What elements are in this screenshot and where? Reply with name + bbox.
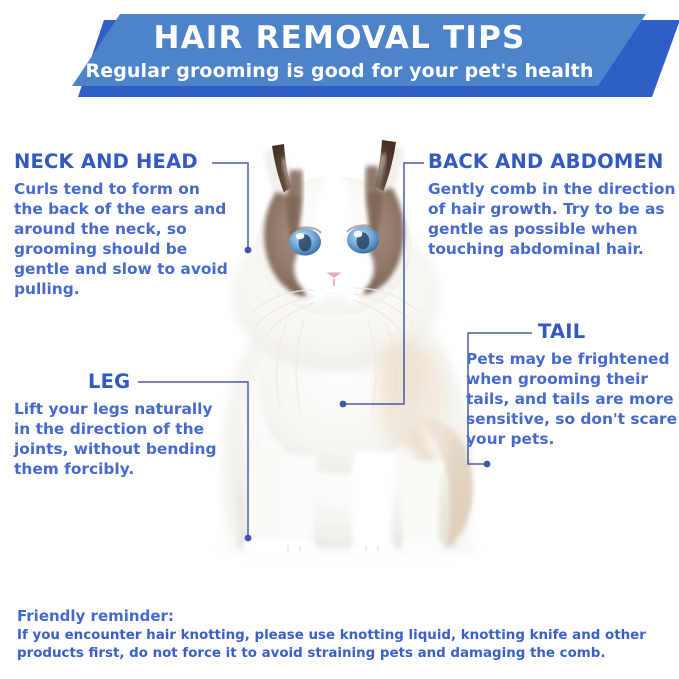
header-banner: HAIR REMOVAL TIPS Regular grooming is go… (0, 0, 679, 104)
section-body-back: Gently comb in the direction of hair gro… (428, 179, 678, 259)
section-body-tail: Pets may be frightened when grooming the… (466, 349, 678, 449)
footer-title: Friendly reminder: (17, 607, 667, 625)
section-heading-tail: TAIL (538, 320, 678, 343)
footer-body: If you encounter hair knotting, please u… (17, 627, 667, 663)
section-leg: LEG Lift your legs naturally in the dire… (14, 370, 229, 479)
section-body-neck: Curls tend to form on the back of the ea… (14, 179, 229, 299)
section-body-leg: Lift your legs naturally in the directio… (14, 399, 229, 479)
footer-note: Friendly reminder: If you encounter hair… (17, 607, 667, 663)
page-subtitle: Regular grooming is good for your pet's … (0, 60, 679, 82)
section-back-and-abdomen: BACK AND ABDOMEN Gently comb in the dire… (428, 150, 678, 259)
section-neck-and-head: NECK AND HEAD Curls tend to form on the … (14, 150, 229, 299)
section-heading-leg: LEG (88, 370, 229, 393)
section-tail: TAIL Pets may be frightened when groomin… (466, 320, 678, 449)
page-title: HAIR REMOVAL TIPS (0, 20, 679, 56)
section-heading-neck: NECK AND HEAD (14, 150, 229, 173)
infographic-canvas: HAIR REMOVAL TIPS Regular grooming is go… (0, 0, 679, 679)
section-heading-back: BACK AND ABDOMEN (428, 150, 678, 173)
